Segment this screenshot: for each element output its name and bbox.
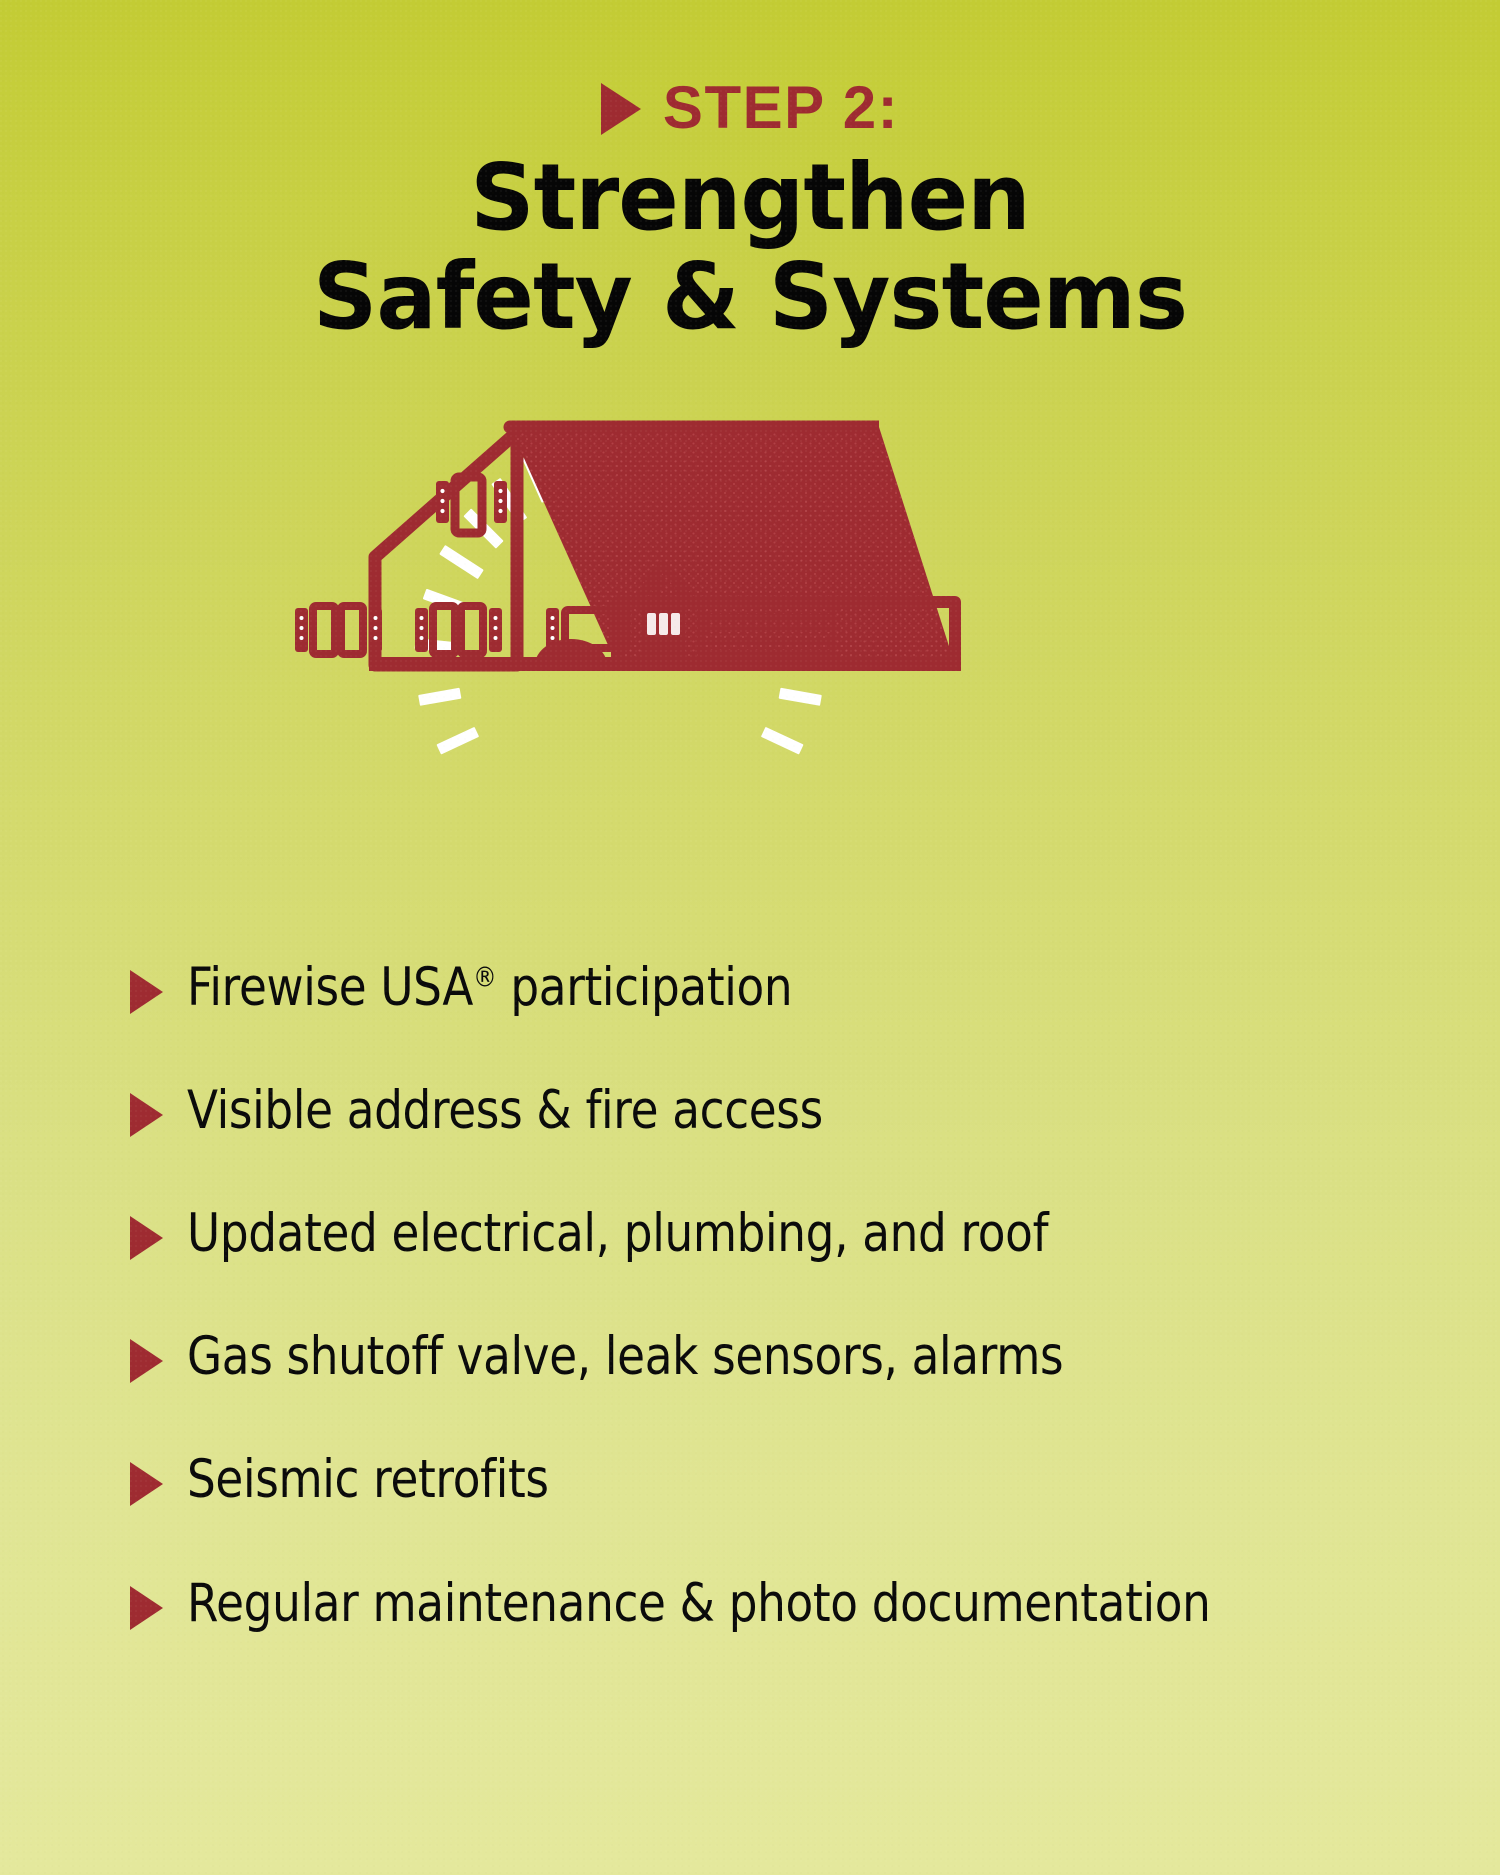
step-label: STEP 2: [663, 78, 899, 138]
triangle-right-icon [130, 1462, 163, 1506]
triangle-right-icon [130, 1339, 163, 1383]
shrub-icon [535, 639, 607, 665]
list-item: Firewise USA® participation [130, 960, 1450, 1015]
step-eyebrow: STEP 2: [0, 78, 1500, 138]
registered-trademark-symbol: ® [473, 961, 496, 993]
triangle-right-icon [130, 1093, 163, 1137]
triangle-right-icon [130, 1586, 163, 1630]
triangle-right-icon [601, 83, 641, 135]
bullet-list: Firewise USA® participation Visible addr… [130, 960, 1450, 1631]
list-item-label: Gas shutoff valve, leak sensors, alarms [187, 1329, 1063, 1384]
list-item: Visible address & fire access [130, 1083, 1450, 1138]
list-item: Updated electrical, plumbing, and roof [130, 1206, 1450, 1261]
attic-vent-window-icon [436, 477, 507, 533]
list-item: Seismic retrofits [130, 1452, 1450, 1507]
list-item: Regular maintenance & photo documentatio… [130, 1576, 1450, 1631]
list-item: Gas shutoff valve, leak sensors, alarms [130, 1329, 1450, 1384]
house-with-sun-rays-illustration [255, 365, 985, 775]
page-title-line-2: Safety & Systems [23, 247, 1478, 346]
list-item-label: Visible address & fire access [187, 1083, 823, 1138]
entry-door-icon [641, 603, 685, 665]
page-title: Strengthen Safety & Systems [0, 148, 1500, 347]
house-icon [295, 427, 961, 671]
list-item-label: Seismic retrofits [187, 1452, 549, 1507]
triangle-right-icon [130, 1216, 163, 1260]
infographic-poster: STEP 2: Strengthen Safety & Systems [0, 0, 1500, 1875]
page-title-line-1: Strengthen [23, 148, 1478, 247]
triangle-right-icon [130, 970, 163, 1014]
list-item-label: Firewise USA® participation [187, 960, 792, 1015]
list-item-label: Regular maintenance & photo documentatio… [187, 1576, 1211, 1631]
list-item-label: Updated electrical, plumbing, and roof [187, 1206, 1048, 1261]
